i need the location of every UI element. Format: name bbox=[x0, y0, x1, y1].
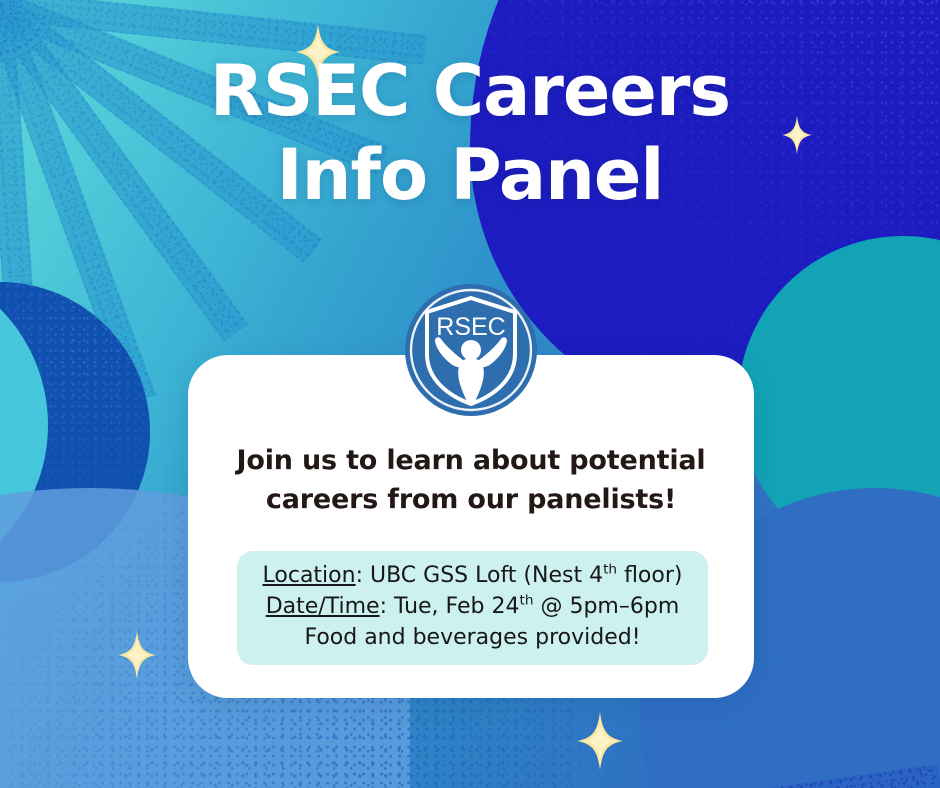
datetime-separator: : bbox=[380, 594, 394, 619]
location-label: Location bbox=[263, 563, 356, 588]
card-heading-line-2: careers from our panelists! bbox=[214, 480, 728, 519]
card-heading: Join us to learn about potential careers… bbox=[214, 441, 728, 519]
datetime-value-after: @ 5pm–6pm bbox=[533, 594, 679, 619]
crescent-cutout bbox=[0, 260, 48, 590]
event-poster: RSEC Careers Info Panel Join us to learn… bbox=[0, 0, 940, 788]
logo-text: RSEC bbox=[436, 313, 505, 341]
location-separator: : bbox=[356, 563, 370, 588]
datetime-value-before: Tue, Feb 24 bbox=[394, 594, 520, 619]
datetime-label: Date/Time bbox=[266, 594, 380, 619]
sparkle-bottom-left-icon bbox=[118, 631, 156, 679]
detail-datetime: Date/Time: Tue, Feb 24th @ 5pm–6pm bbox=[237, 591, 708, 622]
location-value-after: floor) bbox=[617, 563, 682, 588]
title-line-2: Info Panel bbox=[0, 140, 940, 210]
datetime-ordinal: th bbox=[520, 593, 534, 609]
detail-note: Food and beverages provided! bbox=[237, 622, 708, 653]
ray bbox=[569, 766, 940, 788]
blue-crescent-left bbox=[0, 282, 150, 582]
event-details-box: Location: UBC GSS Loft (Nest 4th floor) … bbox=[237, 551, 708, 665]
location-value-before: UBC GSS Loft (Nest 4 bbox=[370, 563, 603, 588]
card-heading-line-1: Join us to learn about potential bbox=[214, 441, 728, 480]
ray bbox=[733, 773, 940, 788]
location-ordinal: th bbox=[603, 562, 617, 578]
ray bbox=[923, 779, 940, 788]
title-line-1: RSEC Careers bbox=[0, 56, 940, 126]
ray bbox=[522, 764, 940, 788]
teal-circle bbox=[738, 236, 940, 566]
poster-title: RSEC Careers Info Panel bbox=[0, 56, 940, 210]
rsec-shield-logo-icon: RSEC bbox=[403, 282, 539, 418]
ray bbox=[640, 769, 940, 788]
detail-location: Location: UBC GSS Loft (Nest 4th floor) bbox=[237, 560, 708, 591]
sparkle-bottom-center-icon bbox=[577, 712, 623, 770]
ray bbox=[850, 778, 940, 788]
